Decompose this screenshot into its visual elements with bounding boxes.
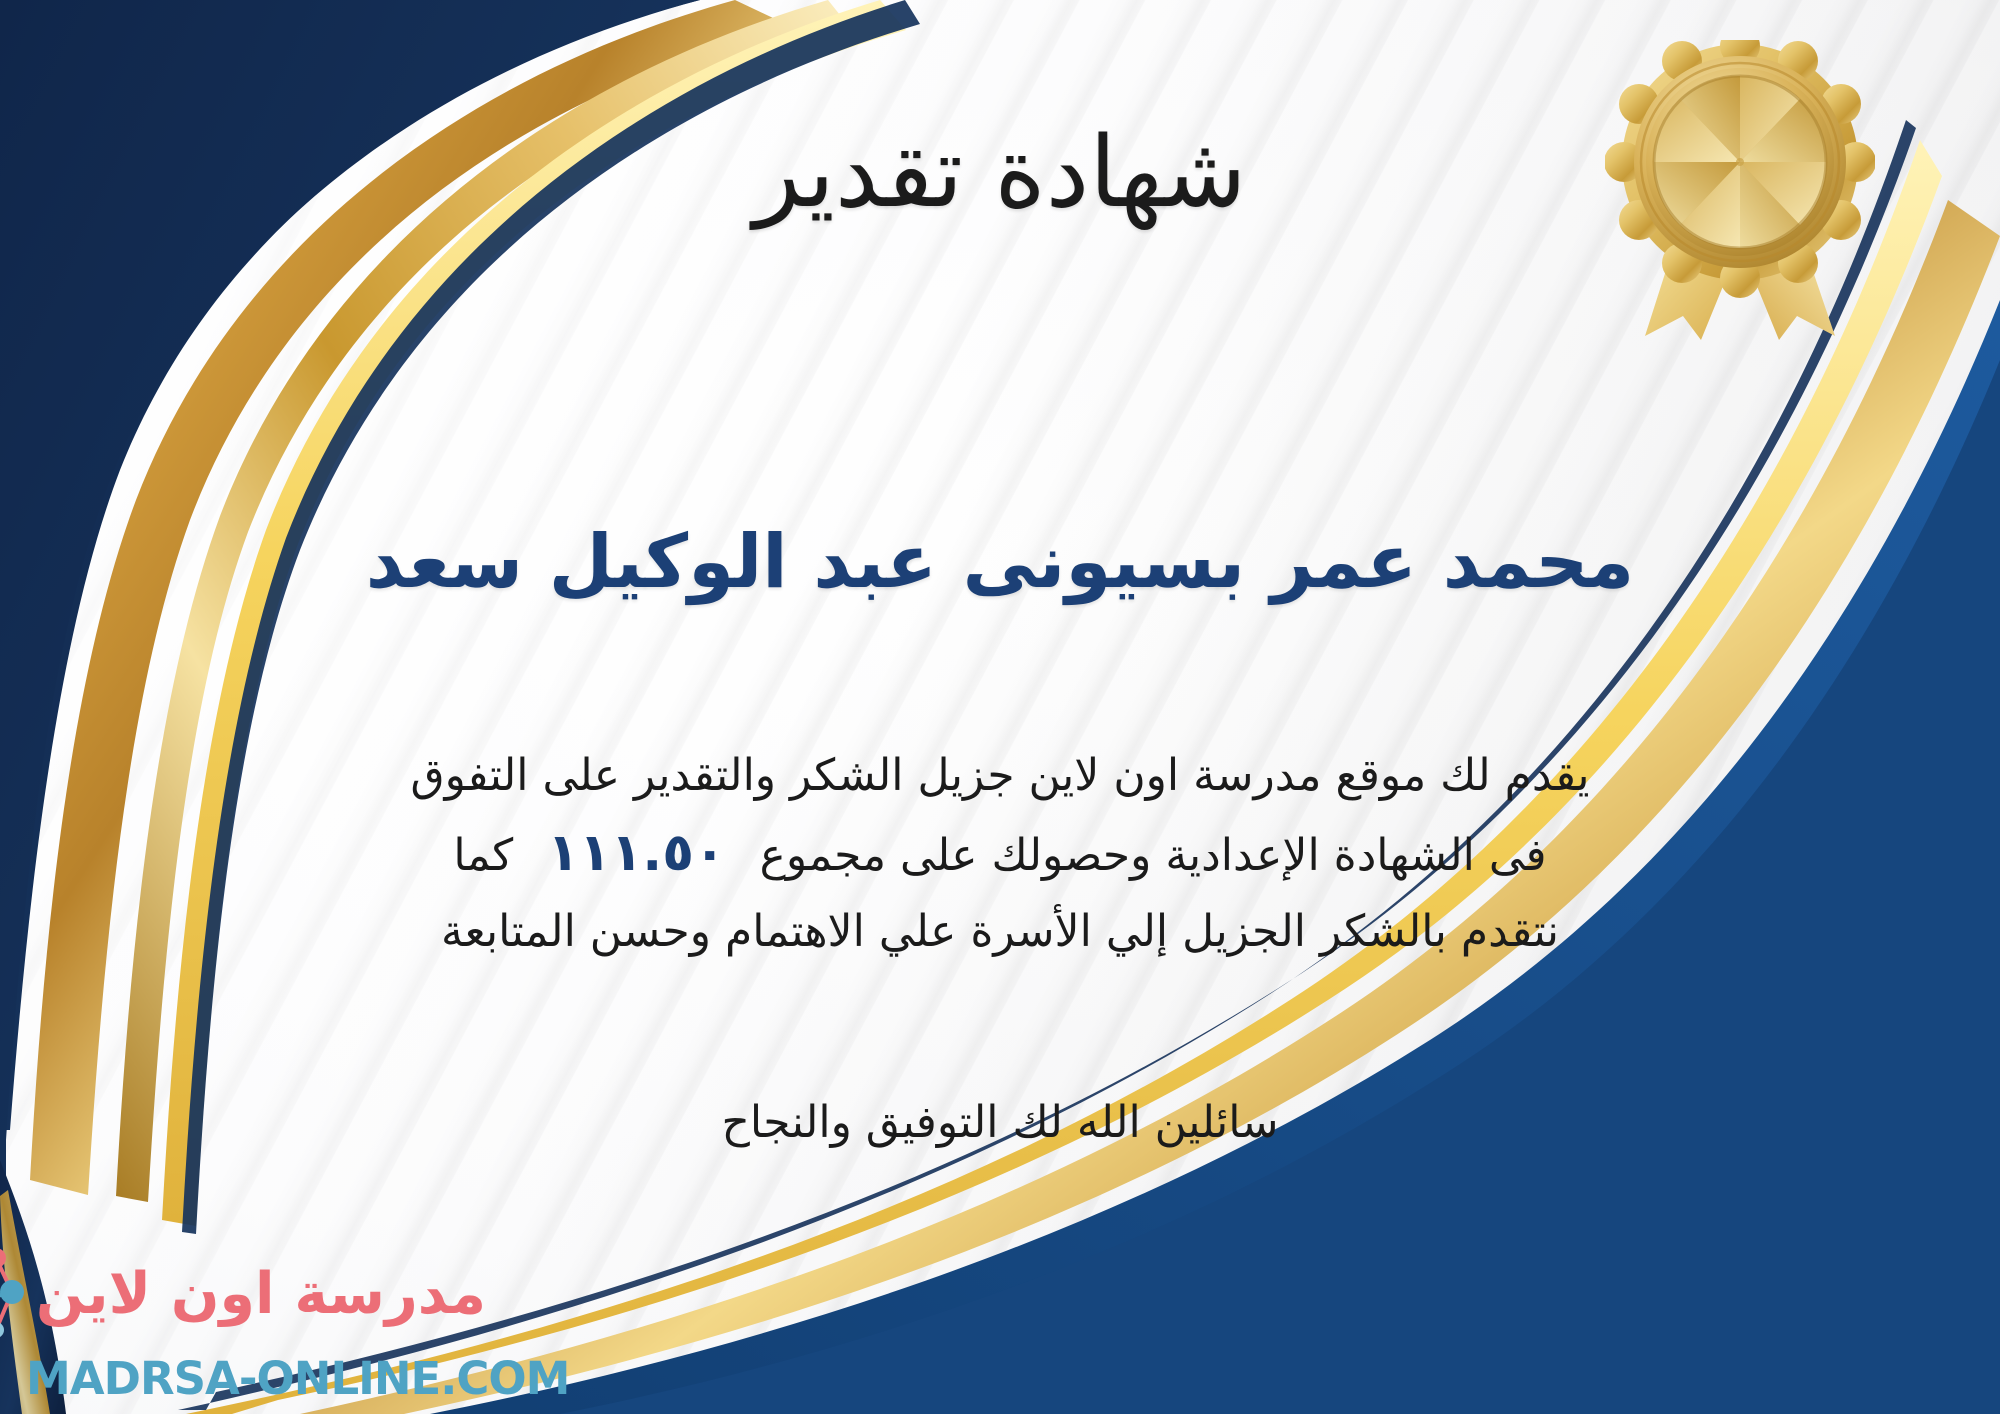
site-logo[interactable]: مدرسة اون لاين MADRSA-ONLINE.COM xyxy=(26,1242,486,1392)
body-line-1: يقدم لك موقع مدرسة اون لاين جزيل الشكر و… xyxy=(60,740,1940,811)
recipient-name: محمد عمر بسيونى عبد الوكيل سعد xyxy=(0,520,2000,605)
body-line-2-suffix: كما xyxy=(453,830,513,881)
score-value: ١١١.٥٠ xyxy=(513,823,759,883)
certificate-content: شهادة تقدير محمد عمر بسيونى عبد الوكيل س… xyxy=(0,0,2000,1414)
logo-primary-row: مدرسة اون لاين xyxy=(26,1242,486,1346)
closing-line: سائلين الله لك التوفيق والنجاح xyxy=(0,1090,2000,1156)
certificate-body: يقدم لك موقع مدرسة اون لاين جزيل الشكر و… xyxy=(60,740,1940,967)
body-line-2: فى الشهادة الإعدادية وحصولك على مجموع١١١… xyxy=(60,811,1940,895)
network-nodes-icon xyxy=(0,1242,26,1346)
logo-arabic-text: مدرسة اون لاين xyxy=(36,1266,486,1323)
logo-website-text: MADRSA-ONLINE.COM xyxy=(26,1356,486,1401)
certificate-canvas: شهادة تقدير محمد عمر بسيونى عبد الوكيل س… xyxy=(0,0,2000,1414)
body-line-3: نتقدم بالشكر الجزيل إلي الأسرة علي الاهت… xyxy=(60,896,1940,967)
certificate-title: شهادة تقدير xyxy=(0,120,2000,228)
body-line-2-prefix: فى الشهادة الإعدادية وحصولك على مجموع xyxy=(760,830,1547,881)
